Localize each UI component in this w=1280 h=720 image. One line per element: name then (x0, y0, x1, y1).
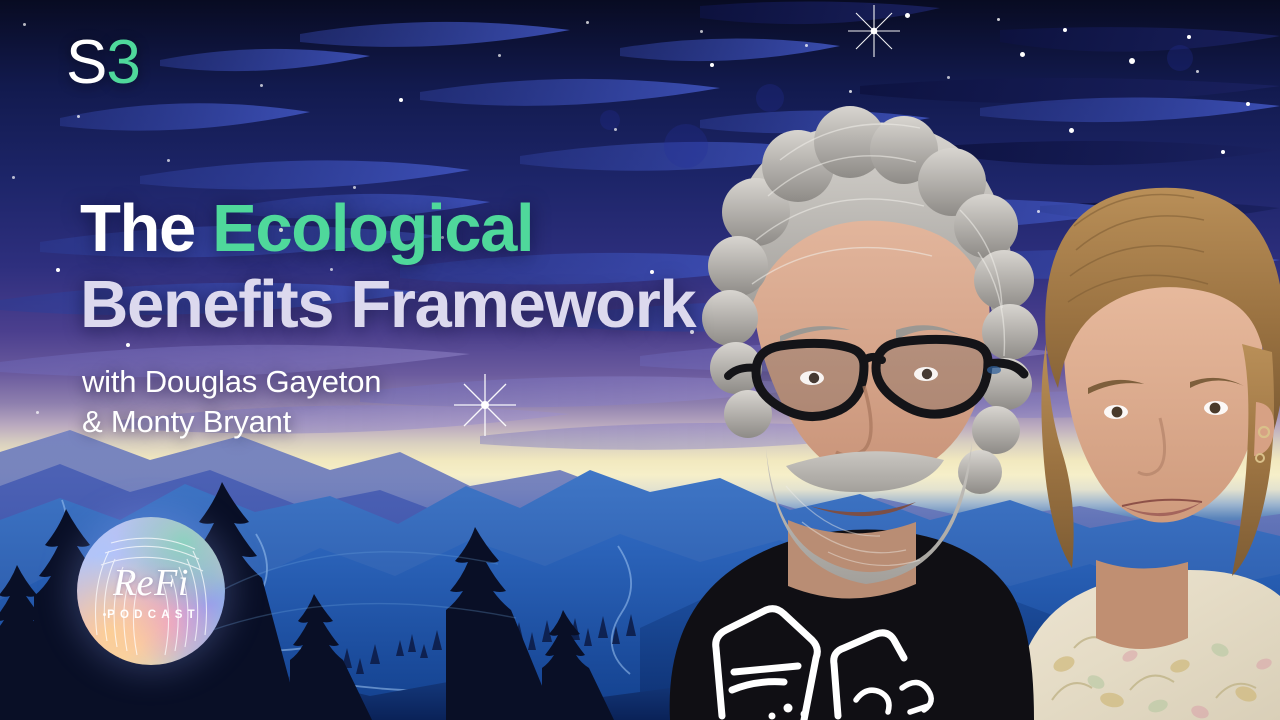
logo-letter-s: S (66, 28, 106, 97)
title-line-1: The Ecological (80, 196, 800, 262)
podcast-cover-artwork: S3 The Ecological Benefits Framework wit… (0, 0, 1280, 720)
badge-tagline: PODCAST (77, 610, 225, 622)
badge-title: ReFi (77, 564, 225, 602)
s3-logo: S3 (66, 32, 140, 94)
guest-portraits-photo (660, 0, 1280, 720)
title-line-2: Benefits Framework (80, 272, 800, 338)
refi-podcast-badge: ReFi PODCAST (77, 517, 225, 665)
guest-credit-line-1: with Douglas Gayeton (82, 362, 381, 402)
logo-number-3: 3 (106, 28, 139, 97)
title-word-ecological: Ecological (212, 191, 533, 266)
title-block: The Ecological Benefits Framework (80, 196, 800, 337)
title-word-the: The (80, 191, 212, 266)
guest-credit-line-2: & Monty Bryant (82, 402, 381, 442)
guest-credits: with Douglas Gayeton & Monty Bryant (82, 362, 381, 443)
